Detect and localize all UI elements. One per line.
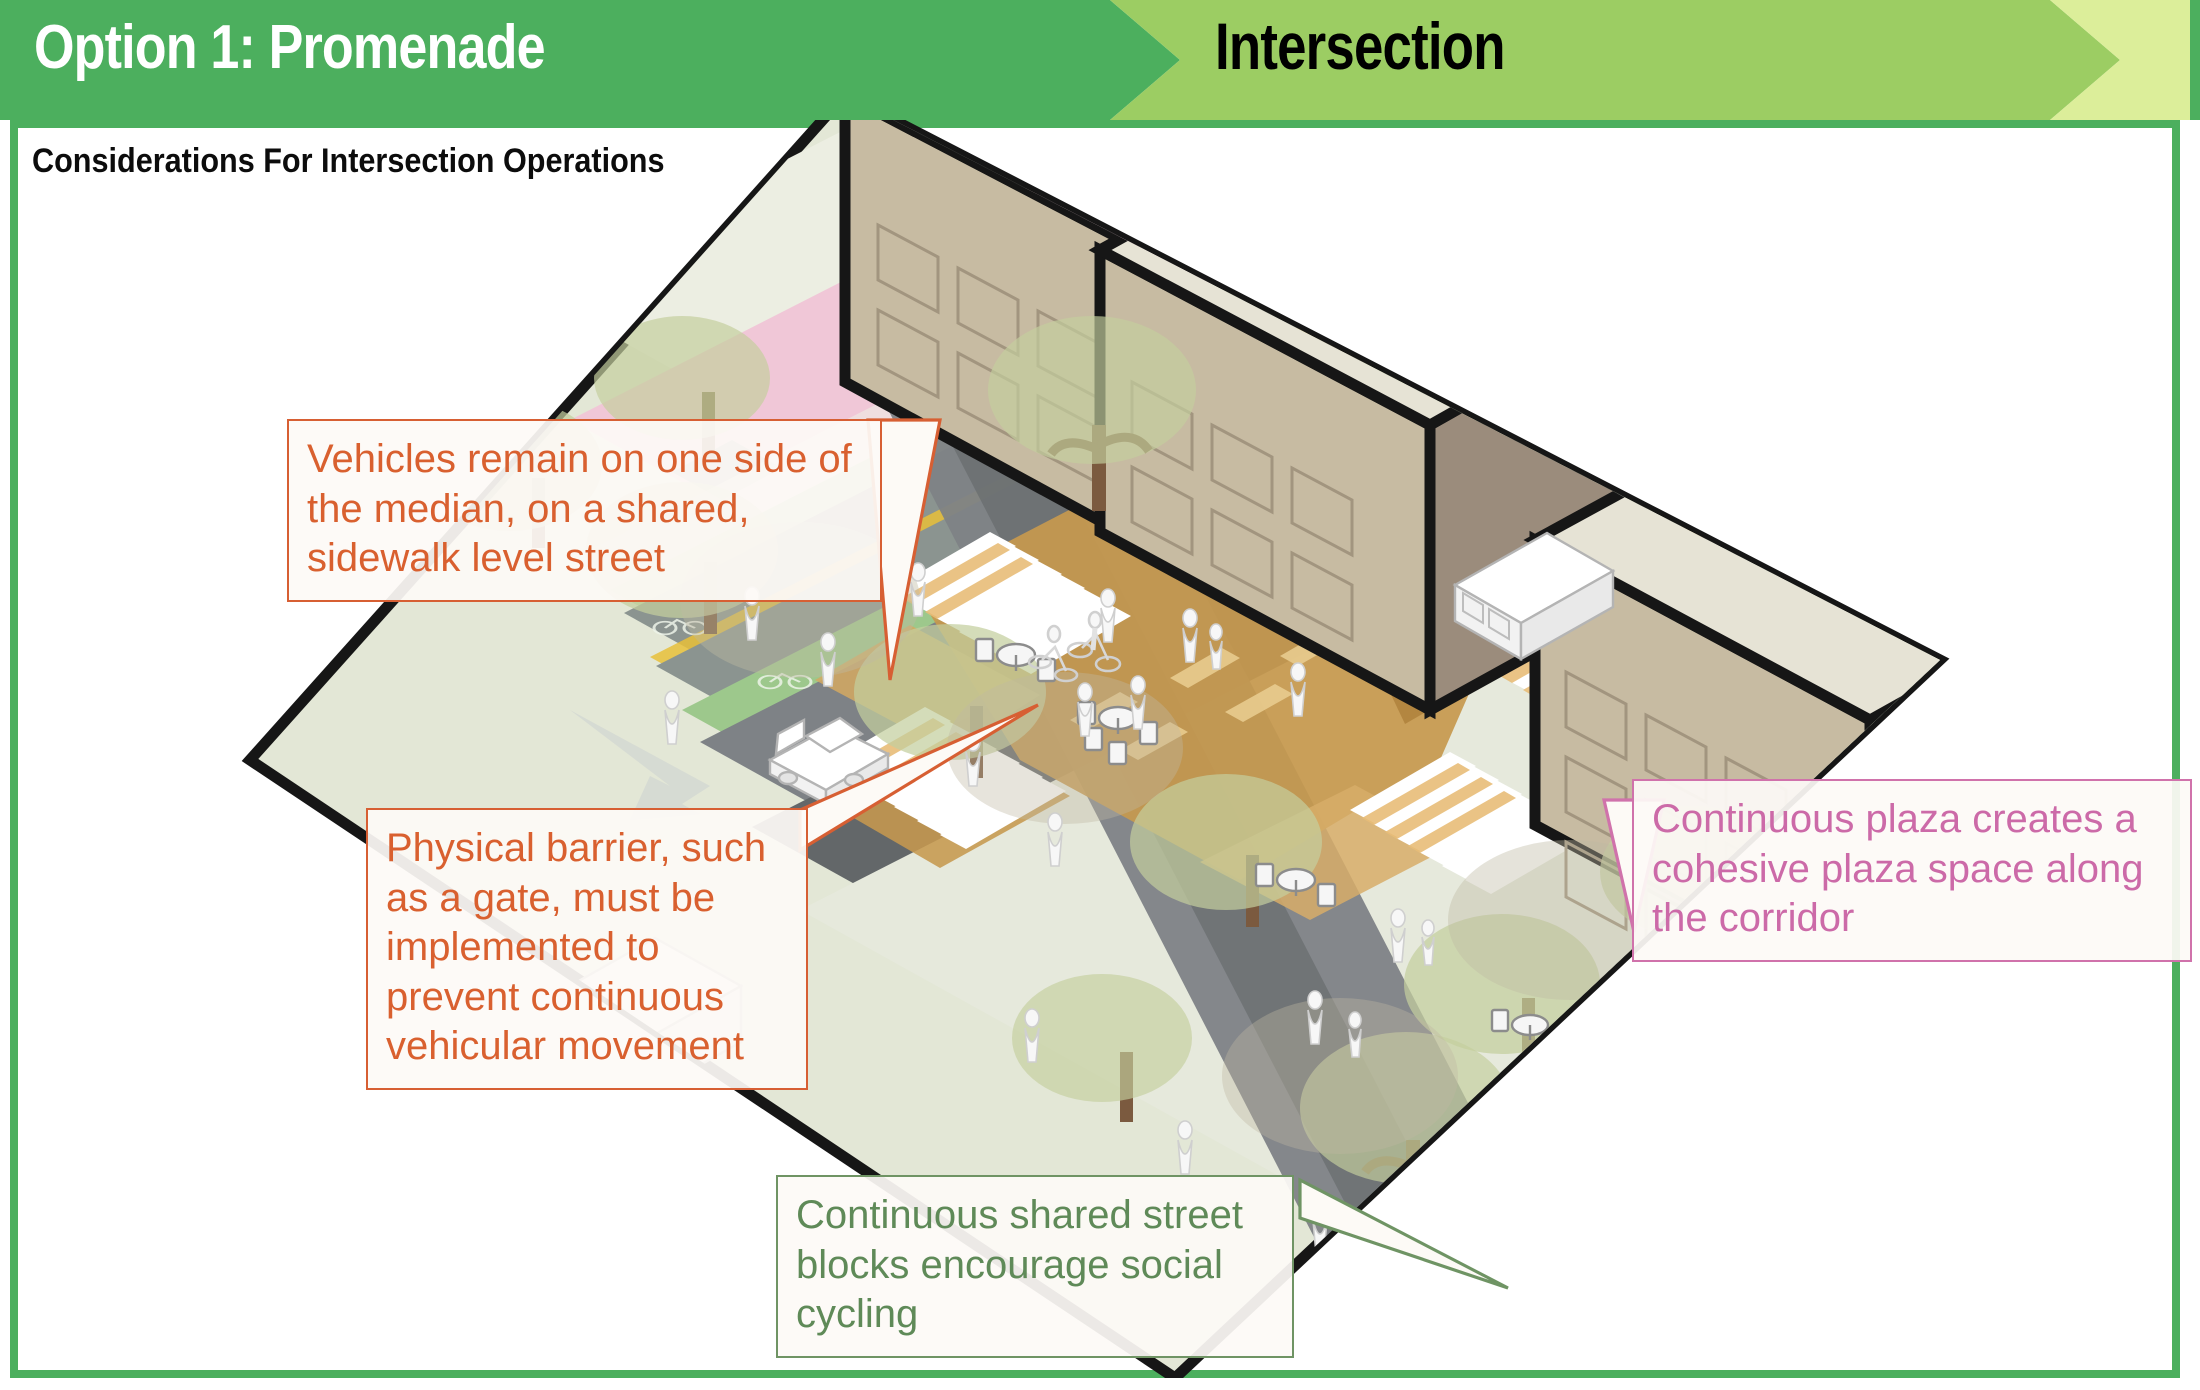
callout-barrier-text: Physical barrier, such as a gate, must b… — [386, 824, 790, 1072]
callout-barrier: Physical barrier, such as a gate, must b… — [366, 808, 808, 1090]
callout-plaza-text: Continuous plaza creates a cohesive plaz… — [1652, 795, 2174, 944]
page-title: Option 1: Promenade — [34, 12, 545, 83]
callout-vehicles-text: Vehicles remain on one side of the media… — [307, 435, 864, 584]
callout-plaza: Continuous plaza creates a cohesive plaz… — [1632, 779, 2192, 962]
callout-cycling-text: Continuous shared street blocks encourag… — [796, 1191, 1276, 1340]
banner-right-edge — [2190, 0, 2200, 120]
header-banner: Option 1: Promenade Intersection — [0, 0, 2200, 120]
callout-cycling: Continuous shared street blocks encourag… — [776, 1175, 1294, 1358]
banner-segment-tertiary — [2050, 0, 2190, 120]
section-title: Intersection — [1215, 8, 1505, 84]
slide-page: Option 1: Promenade Intersection Conside… — [0, 0, 2200, 1390]
callout-vehicles: Vehicles remain on one side of the media… — [287, 419, 882, 602]
